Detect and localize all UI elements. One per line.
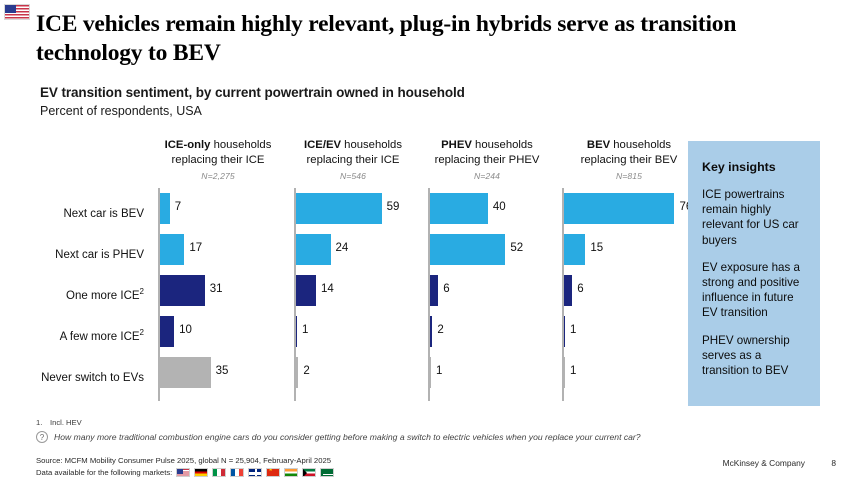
chart-bars: 4052621: [430, 188, 564, 401]
chart-row-label: Next car is BEV: [63, 208, 144, 220]
chart-bar-row: 1: [430, 352, 564, 393]
chart-panels: ICE-only householdsreplacing their ICEN=…: [150, 138, 686, 406]
survey-question-text: How many more traditional combustion eng…: [54, 432, 641, 442]
chart-bar: [296, 357, 299, 388]
chart-panel: PHEV householdsreplacing their PHEVN=244…: [420, 138, 554, 406]
markets-line: Data available for the following markets…: [36, 467, 334, 478]
chart-bar: [564, 193, 675, 224]
chart-panel-header: PHEV householdsreplacing their PHEV: [420, 138, 554, 168]
chart-row-label: A few more ICE2: [60, 331, 144, 343]
survey-question-line: ? How many more traditional combustion e…: [36, 431, 641, 443]
chart-bar-value: 2: [437, 324, 443, 336]
chart-panel: ICE-only householdsreplacing their ICEN=…: [150, 138, 286, 406]
footnote-text: Incl. HEV: [50, 418, 82, 427]
key-insights-list: ICE powertrains remain highly relevant f…: [702, 187, 808, 378]
chart-row-labels: Next car is BEVNext car is PHEVOne more …: [36, 196, 148, 401]
us-flag-icon: [4, 4, 30, 20]
chart-bar: [296, 275, 316, 306]
chart-bar-value: 24: [336, 242, 349, 254]
source-text: Source: MCFM Mobility Consumer Pulse 202…: [36, 455, 334, 466]
chart-bars: 59241412: [296, 188, 430, 401]
chart-bar: [564, 234, 586, 265]
india-flag-icon: [284, 468, 298, 477]
china-flag-icon: [266, 468, 280, 477]
kuwait-flag-icon: [302, 468, 316, 477]
page-title: ICE vehicles remain highly relevant, plu…: [36, 10, 816, 67]
chart-bar-value: 1: [570, 365, 576, 377]
chart-bar-value: 15: [590, 242, 603, 254]
footnote-number: 1.: [36, 418, 50, 427]
chart-bar-row: 35: [160, 352, 296, 393]
chart-bar-row: 7: [160, 188, 296, 229]
key-insight-item: EV exposure has a strong and positive in…: [702, 260, 808, 321]
chart-bar: [430, 234, 506, 265]
chart-bar-row: 24: [296, 229, 430, 270]
flag-canton: [5, 5, 16, 13]
markets-label: Data available for the following markets…: [36, 467, 172, 478]
chart-bar-row: 17: [160, 229, 296, 270]
chart-bar-value: 1: [302, 324, 308, 336]
chart-panel-sample-size: N=2,275: [150, 171, 286, 181]
chart-bar-row: 10: [160, 311, 296, 352]
chart-bar: [430, 275, 439, 306]
source-block: Source: MCFM Mobility Consumer Pulse 202…: [36, 455, 334, 478]
chart-row-label: Next car is PHEV: [55, 249, 144, 261]
market-flags: [176, 468, 334, 477]
chart-bar-row: 6: [430, 270, 564, 311]
chart-bar-value: 35: [216, 365, 229, 377]
chart-bar-value: 6: [443, 283, 449, 295]
chart: Next car is BEVNext car is PHEVOne more …: [36, 138, 686, 406]
chart-bar-value: 17: [189, 242, 202, 254]
chart-bar-value: 2: [303, 365, 309, 377]
chart-bar-value: 1: [570, 324, 576, 336]
chart-bar-row: 52: [430, 229, 564, 270]
chart-bar-row: 31: [160, 270, 296, 311]
chart-bar-row: 2: [430, 311, 564, 352]
key-insights-heading: Key insights: [702, 160, 808, 174]
chart-bar-row: 2: [296, 352, 430, 393]
key-insight-item: PHEV ownership serves as a transition to…: [702, 333, 808, 379]
chart-bar-value: 10: [179, 324, 192, 336]
chart-bar: [430, 316, 433, 347]
chart-bar-value: 7: [175, 201, 181, 213]
chart-bar: [564, 275, 573, 306]
chart-bar: [296, 234, 331, 265]
chart-panel-header: BEV householdsreplacing their BEV: [554, 138, 704, 168]
italy-flag-icon: [212, 468, 226, 477]
chart-bar-value: 40: [493, 201, 506, 213]
chart-bar: [564, 357, 566, 388]
chart-bar: [160, 357, 211, 388]
chart-bar: [430, 193, 488, 224]
chart-bars: 717311035: [160, 188, 296, 401]
chart-subtitle: EV transition sentiment, by current powe…: [40, 85, 465, 100]
chart-bar: [296, 193, 382, 224]
chart-panel: ICE/EV householdsreplacing their ICEN=54…: [286, 138, 420, 406]
chart-bar: [160, 316, 175, 347]
chart-units: Percent of respondents, USA: [40, 104, 202, 118]
chart-bar-value: 14: [321, 283, 334, 295]
chart-panel-header: ICE-only householdsreplacing their ICE: [150, 138, 286, 168]
chart-bar: [296, 316, 298, 347]
us-flag-icon: [176, 468, 190, 477]
question-mark-icon: ?: [36, 431, 48, 443]
chart-row-label: One more ICE2: [66, 290, 144, 302]
chart-row-label: Never switch to EVs: [41, 372, 144, 384]
chart-bar-row: 40: [430, 188, 564, 229]
key-insights-panel: Key insights ICE powertrains remain high…: [688, 141, 820, 406]
chart-bar: [564, 316, 566, 347]
chart-bar-row: 1: [296, 311, 430, 352]
uk-flag-icon: [248, 468, 262, 477]
chart-bar-value: 1: [436, 365, 442, 377]
chart-bar: [160, 193, 170, 224]
france-flag-icon: [230, 468, 244, 477]
chart-bar: [160, 275, 205, 306]
chart-bar-row: 14: [296, 270, 430, 311]
footnote: 1.Incl. HEV: [36, 418, 82, 427]
chart-panel-sample-size: N=546: [286, 171, 420, 181]
chart-bar-value: 52: [510, 242, 523, 254]
chart-panel-sample-size: N=815: [554, 171, 704, 181]
chart-bar: [430, 357, 432, 388]
slide: ICE vehicles remain highly relevant, plu…: [0, 0, 850, 478]
chart-bar: [160, 234, 185, 265]
saudi-arabia-flag-icon: [320, 468, 334, 477]
brand-label: McKinsey & Company: [723, 458, 805, 468]
chart-panel-sample-size: N=244: [420, 171, 554, 181]
chart-panel-header: ICE/EV householdsreplacing their ICE: [286, 138, 420, 168]
chart-bar-value: 31: [210, 283, 223, 295]
chart-panel: BEV householdsreplacing their BEVN=81576…: [554, 138, 704, 406]
chart-bar-row: 59: [296, 188, 430, 229]
key-insight-item: ICE powertrains remain highly relevant f…: [702, 187, 808, 248]
chart-bar-value: 6: [577, 283, 583, 295]
page-number: 8: [831, 458, 836, 468]
chart-bar-value: 59: [387, 201, 400, 213]
germany-flag-icon: [194, 468, 208, 477]
